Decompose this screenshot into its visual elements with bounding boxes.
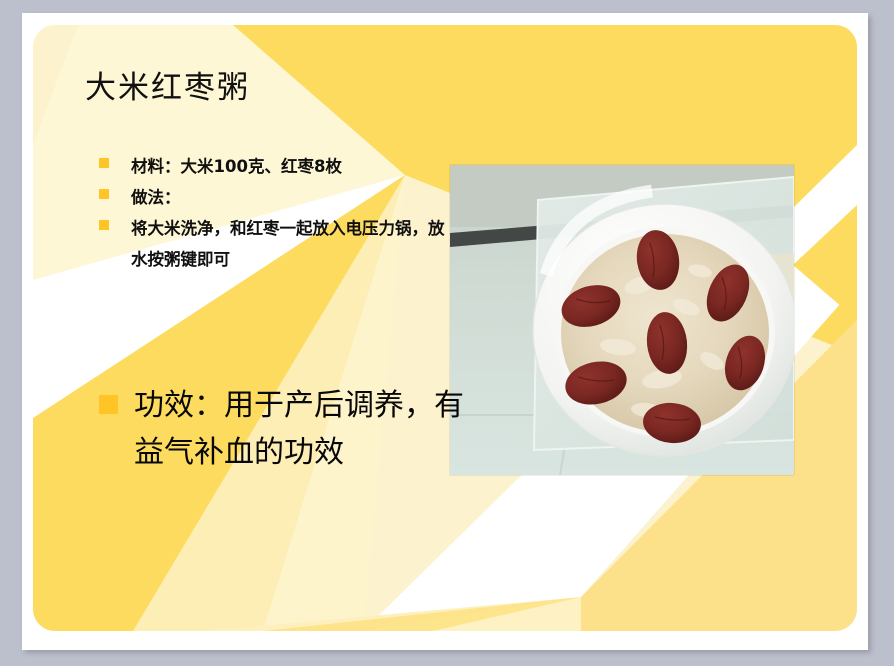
bullet-item-method-steps: 将大米洗净，和红枣一起放入电压力锅，放水按粥键即可	[99, 213, 449, 275]
porridge-photo-image	[450, 165, 794, 475]
porridge-photo	[450, 165, 794, 475]
bullet-item-label: 做法：	[131, 182, 181, 213]
bullet-item-method-label: 做法：	[99, 182, 181, 213]
bullet-item-label: 功效：用于产后调养，有益气补血的功效	[134, 382, 479, 476]
bullet-item-label: 材料：大米100克、红枣8枚	[131, 151, 342, 182]
bullet-square-icon	[99, 158, 109, 168]
bullet-item-ingredients: 材料：大米100克、红枣8枚	[99, 151, 342, 182]
bullet-square-icon	[99, 220, 109, 230]
slide-page: 大米红枣粥 材料：大米100克、红枣8枚 做法： 将大米洗净，和红枣一起放入电压…	[22, 13, 868, 650]
bullet-square-icon	[99, 189, 109, 199]
bullet-square-icon	[99, 395, 118, 414]
page-title: 大米红枣粥	[85, 62, 250, 107]
bullet-item-label: 将大米洗净，和红枣一起放入电压力锅，放水按粥键即可	[131, 213, 449, 275]
slide-canvas: 大米红枣粥 材料：大米100克、红枣8枚 做法： 将大米洗净，和红枣一起放入电压…	[33, 25, 857, 631]
bullet-item-benefits: 功效：用于产后调养，有益气补血的功效	[99, 382, 479, 476]
